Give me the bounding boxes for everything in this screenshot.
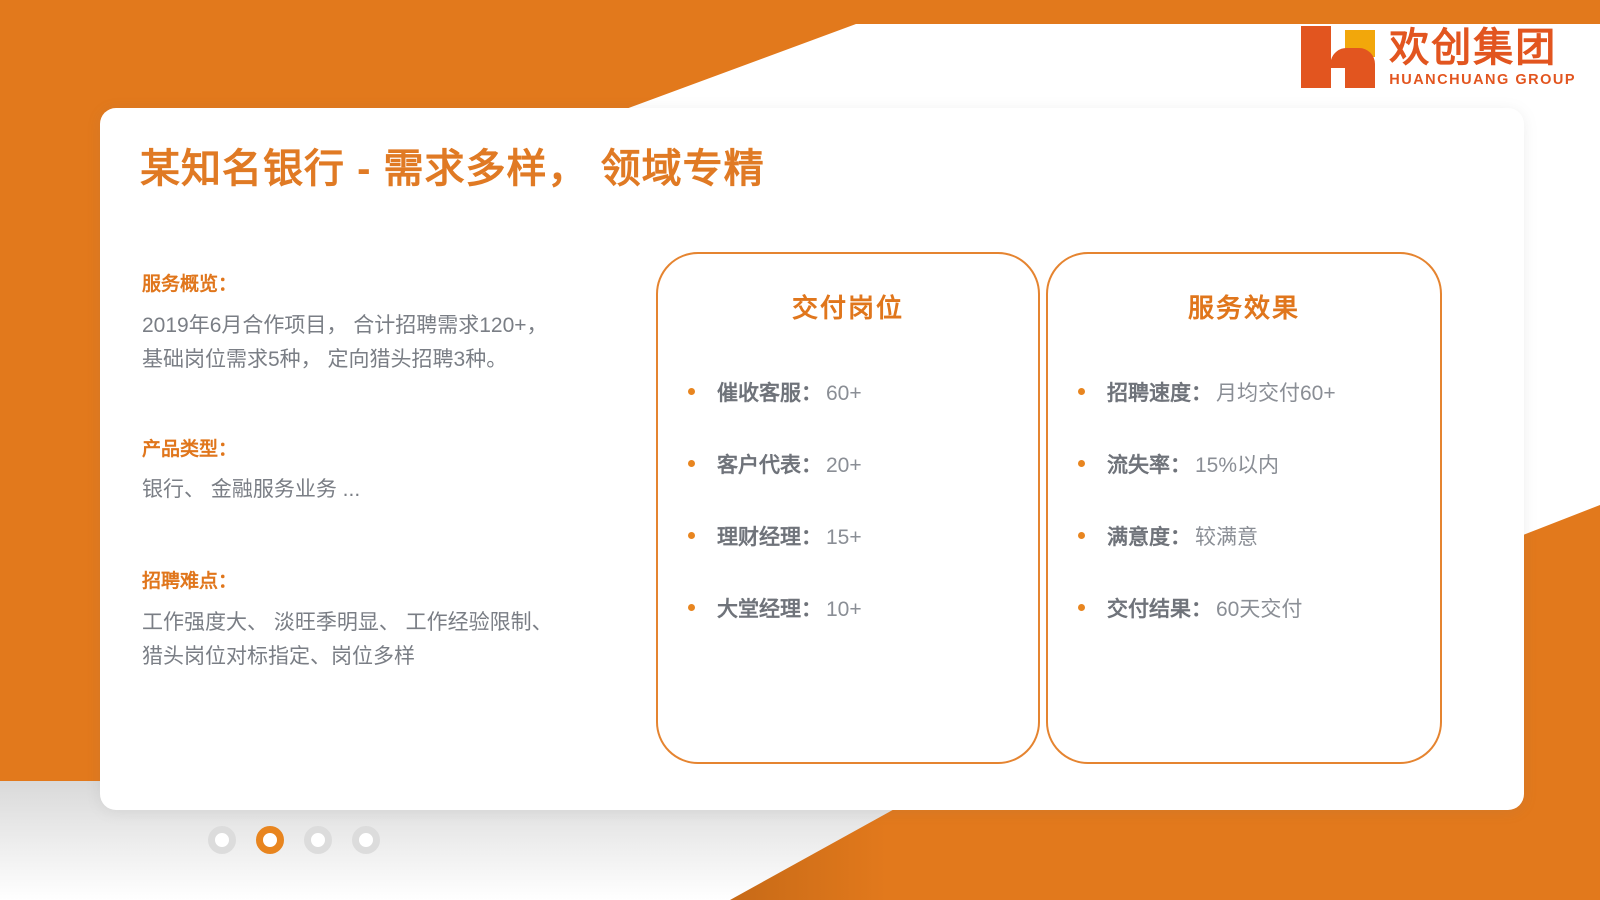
list-item: 理财经理： 15+ (658, 521, 1038, 551)
list-item: 招聘速度： 月均交付60+ (1048, 377, 1440, 407)
section-heading: 产品类型： (142, 437, 647, 464)
section-body: 2019年6月合作项目， 合计招聘需求120+， 基础岗位需求5种， 定向猎头招… (142, 309, 647, 377)
section-spacer (142, 377, 647, 437)
list-item-value: 60天交付 (1216, 593, 1302, 623)
pagination-dots[interactable] (208, 826, 380, 854)
card-item-list: 催收客服： 60+ 客户代表： 20+ 理财经理： 15+ 大堂经理： 10+ (658, 377, 1038, 623)
bullet-dot-icon (1078, 604, 1085, 611)
logo-h-glyph-icon (1301, 46, 1375, 88)
bullet-dot-icon (1078, 388, 1085, 395)
list-item: 流失率： 15%以内 (1048, 449, 1440, 479)
section-body: 银行、 金融服务业务 ... (142, 473, 647, 507)
list-item: 交付结果： 60天交付 (1048, 593, 1440, 623)
list-item-label: 招聘速度： (1107, 377, 1212, 407)
card-service-results: 服务效果 招聘速度： 月均交付60+ 流失率： 15%以内 满意度： 较满意 交… (1046, 252, 1442, 764)
logo-text-block: 欢创集团 HUANCHUANG GROUP (1389, 27, 1576, 88)
right-orange-slab-lower (1523, 780, 1600, 792)
list-item: 催收客服： 60+ (658, 377, 1038, 407)
card-item-list: 招聘速度： 月均交付60+ 流失率： 15%以内 满意度： 较满意 交付结果： … (1048, 377, 1440, 623)
list-item: 满意度： 较满意 (1048, 521, 1440, 551)
list-item: 客户代表： 20+ (658, 449, 1038, 479)
section-recruiting-difficulty: 招聘难点： 工作强度大、 淡旺季明显、 工作经验限制、 猎头岗位对标指定、岗位多… (142, 569, 647, 674)
logo-mark-icon (1301, 26, 1375, 88)
list-item-label: 理财经理： (717, 521, 822, 551)
section-heading: 服务概览： (142, 272, 647, 299)
pagination-dot-1[interactable] (208, 826, 236, 854)
pagination-dot-3[interactable] (304, 826, 332, 854)
list-item-value: 60+ (826, 382, 862, 406)
bullet-dot-icon (688, 604, 695, 611)
list-item-value: 10+ (826, 598, 862, 622)
logo-chinese-name: 欢创集团 (1389, 27, 1557, 69)
section-service-overview: 服务概览： 2019年6月合作项目， 合计招聘需求120+， 基础岗位需求5种，… (142, 272, 647, 377)
list-item-label: 客户代表： (717, 449, 822, 479)
bullet-dot-icon (688, 388, 695, 395)
card-delivery-positions: 交付岗位 催收客服： 60+ 客户代表： 20+ 理财经理： 15+ 大堂经理：… (656, 252, 1040, 764)
page-title: 某知名银行 - 需求多样， 领域专精 (140, 136, 765, 194)
section-heading: 招聘难点： (142, 569, 647, 596)
list-item-label: 催收客服： (717, 377, 822, 407)
list-item-label: 流失率： (1107, 449, 1191, 479)
bullet-dot-icon (1078, 532, 1085, 539)
card-title: 服务效果 (1048, 288, 1440, 325)
list-item-value: 15+ (826, 526, 862, 550)
card-title: 交付岗位 (658, 288, 1038, 325)
logo-english-name: HUANCHUANG GROUP (1389, 72, 1576, 88)
pagination-dot-4[interactable] (352, 826, 380, 854)
pagination-dot-2[interactable] (256, 826, 284, 854)
list-item-label: 满意度： (1107, 521, 1191, 551)
left-info-column: 服务概览： 2019年6月合作项目， 合计招聘需求120+， 基础岗位需求5种，… (142, 272, 647, 674)
bullet-dot-icon (1078, 460, 1085, 467)
section-product-type: 产品类型： 银行、 金融服务业务 ... (142, 437, 647, 508)
bullet-dot-icon (688, 460, 695, 467)
list-item-value: 20+ (826, 454, 862, 478)
list-item-label: 大堂经理： (717, 593, 822, 623)
bullet-dot-icon (688, 532, 695, 539)
list-item-value: 月均交付60+ (1216, 377, 1336, 407)
company-logo: 欢创集团 HUANCHUANG GROUP (1301, 26, 1576, 88)
list-item-value: 15%以内 (1195, 449, 1279, 479)
section-body: 工作强度大、 淡旺季明显、 工作经验限制、 猎头岗位对标指定、岗位多样 (142, 606, 647, 674)
right-orange-slab (1523, 505, 1600, 790)
list-item-value: 较满意 (1195, 521, 1258, 551)
slide-canvas: 欢创集团 HUANCHUANG GROUP 某知名银行 - 需求多样， 领域专精… (0, 0, 1600, 900)
list-item-label: 交付结果： (1107, 593, 1212, 623)
list-item: 大堂经理： 10+ (658, 593, 1038, 623)
section-spacer (142, 507, 647, 569)
